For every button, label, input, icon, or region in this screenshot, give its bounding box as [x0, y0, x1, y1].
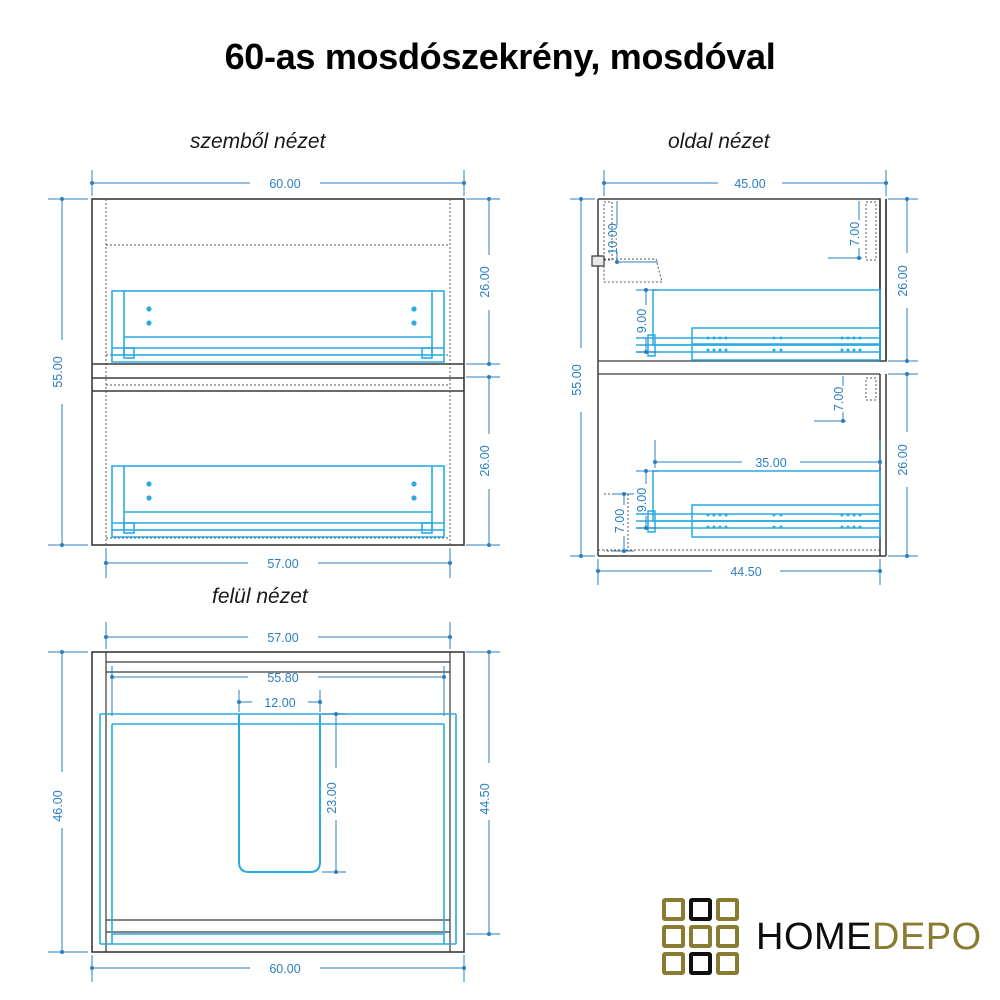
logo-cell-5 [716, 925, 739, 948]
homedepo-logo: HOMEDEPO [662, 898, 982, 975]
logo-grid-icon [662, 898, 739, 975]
logo-cell-1 [689, 898, 712, 921]
top-dim-depth-left: 46.00 [51, 790, 65, 821]
logo-cell-2 [716, 898, 739, 921]
top-view-geometry: 57.00 55.80 12.00 23.00 46.00 44.50 60.0… [48, 622, 500, 982]
logo-wordmark: HOMEDEPO [756, 918, 982, 956]
logo-cell-7 [689, 952, 712, 975]
top-basin-outline [100, 714, 456, 944]
top-dim-width-overall: 60.00 [269, 962, 300, 976]
top-dim-width-inner: 55.80 [267, 671, 298, 685]
logo-cell-6 [662, 952, 685, 975]
top-dim-basin-cutout-depth: 23.00 [325, 782, 339, 813]
logo-text-depo: DEPO [872, 916, 982, 958]
logo-cell-4 [689, 925, 712, 948]
top-view-drawing: 57.00 55.80 12.00 23.00 46.00 44.50 60.0… [0, 0, 1000, 1000]
logo-text-home: HOME [756, 916, 872, 958]
drawing-page: 60-as mosdószekrény, mosdóval szemből né… [0, 0, 1000, 1000]
top-dim-basin-cutout-width: 12.00 [264, 696, 295, 710]
logo-cell-3 [662, 925, 685, 948]
top-dim-depth-right: 44.50 [478, 783, 492, 814]
logo-cell-0 [662, 898, 685, 921]
basin-cutout-shape [239, 714, 320, 872]
logo-cell-8 [716, 952, 739, 975]
top-dim-width-body: 57.00 [267, 631, 298, 645]
